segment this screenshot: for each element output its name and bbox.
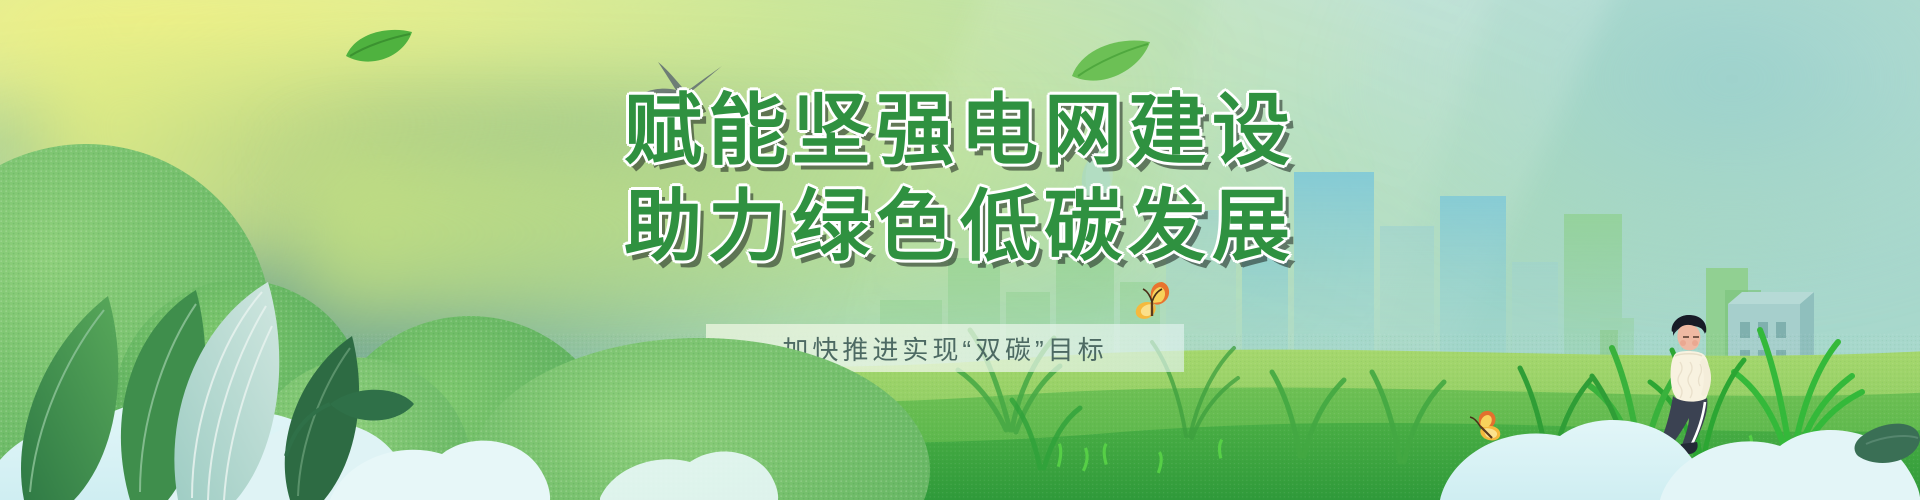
butterfly-lower-right xyxy=(1462,408,1506,446)
title-line-2: 助力绿色低碳发展 xyxy=(0,180,1920,272)
eco-power-grid-banner: 赋能坚强电网建设 助力绿色低碳发展 加快推进实现“双碳”目标 xyxy=(0,0,1920,500)
butterfly-center xyxy=(1130,280,1176,322)
walking-person xyxy=(1645,310,1735,460)
banner-subtitle: 加快推进实现“双碳”目标 xyxy=(706,324,1184,372)
title-line-1: 赋能坚强电网建设 xyxy=(0,84,1920,176)
banner-title: 赋能坚强电网建设 助力绿色低碳发展 xyxy=(0,84,1920,272)
grass-meadow xyxy=(0,250,1920,500)
floating-leaf-top-left xyxy=(342,26,416,72)
